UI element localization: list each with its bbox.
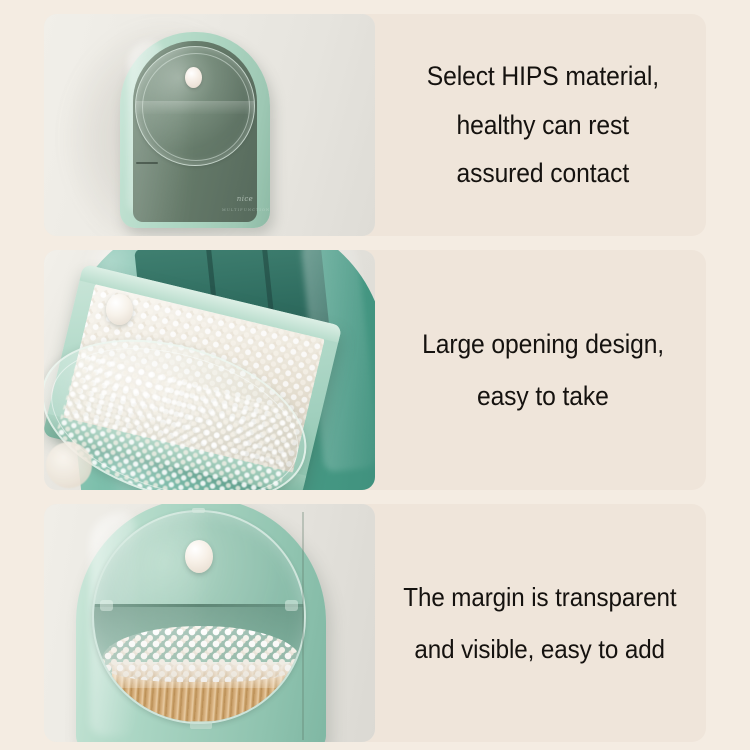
- brand-subtext: MULTIFUNCTION: [222, 208, 270, 212]
- feature-panel-transparent-window: The margin is transparent and visible, e…: [0, 504, 750, 742]
- foreground-bokeh-orb: [46, 442, 92, 488]
- caption-line: and visible, easy to add: [415, 636, 665, 662]
- feature-caption-transparent-window: The margin is transparent and visible, e…: [372, 504, 708, 742]
- body-seam-line: [302, 512, 304, 740]
- brand-script-text: nice: [237, 195, 253, 203]
- caption-line: easy to take: [477, 383, 609, 410]
- lid-latch: [190, 721, 212, 729]
- product-photo-closed-dispenser: nice MULTIFUNCTION: [44, 14, 375, 236]
- product-photo-open-drawer: [44, 250, 375, 490]
- lid-knob: [106, 294, 133, 325]
- interior-shelf-line: [94, 604, 304, 607]
- product-photo-transparent-window: [44, 504, 375, 742]
- swab-heads-shading: [102, 626, 300, 682]
- infographic-page: nice MULTIFUNCTION Select HIPS material,…: [0, 0, 750, 750]
- lid-bottom-seam: [136, 162, 158, 164]
- cotton-swab-pile: [100, 622, 302, 722]
- window-clip-left: [100, 600, 113, 611]
- feature-panel-material: nice MULTIFUNCTION Select HIPS material,…: [0, 14, 750, 236]
- caption-line: assured contact: [457, 160, 630, 187]
- window-clip-right: [285, 600, 298, 611]
- transparent-circular-lid: [135, 46, 255, 166]
- feature-panel-large-opening: Large opening design, easy to take: [0, 250, 750, 490]
- lid-hinge: [192, 508, 205, 513]
- lid-knob: [185, 67, 202, 88]
- caption-line: healthy can rest: [457, 112, 630, 139]
- product-brand-logo: nice MULTIFUNCTION: [222, 194, 268, 214]
- caption-line: The margin is transparent: [403, 584, 676, 610]
- lid-knob: [185, 540, 213, 573]
- caption-line: Select HIPS material,: [427, 63, 659, 90]
- feature-caption-large-opening: Large opening design, easy to take: [380, 250, 706, 490]
- feature-caption-material: Select HIPS material, healthy can rest a…: [380, 14, 706, 236]
- caption-line: Large opening design,: [422, 331, 664, 358]
